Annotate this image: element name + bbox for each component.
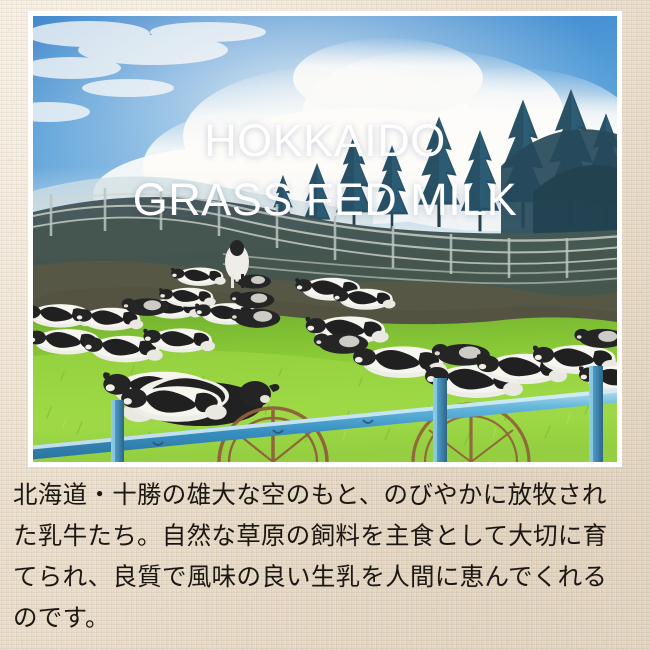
hero-photo-frame: HOKKAIDO GRASS FED MILK [28, 11, 622, 467]
description-line-4: のです。 [13, 597, 641, 638]
description-line-2: た乳牛たち。自然な草原の飼料を主食として大切に育 [13, 515, 641, 556]
hokkaido-pasture-photo: HOKKAIDO GRASS FED MILK [33, 16, 617, 462]
product-description-text: 北海道・十勝の雄大な空のもと、のびやかに放牧され た乳牛たち。自然な草原の飼料を… [13, 474, 641, 638]
pasture-scene-illustration [33, 16, 617, 462]
description-line-1: 北海道・十勝の雄大な空のもと、のびやかに放牧され [13, 474, 641, 515]
product-description-page: HOKKAIDO GRASS FED MILK 北海道・十勝の雄大な空のもと、の… [0, 0, 650, 650]
description-line-3: てられ、良質で風味の良い生乳を人間に恵んでくれる [13, 556, 641, 597]
